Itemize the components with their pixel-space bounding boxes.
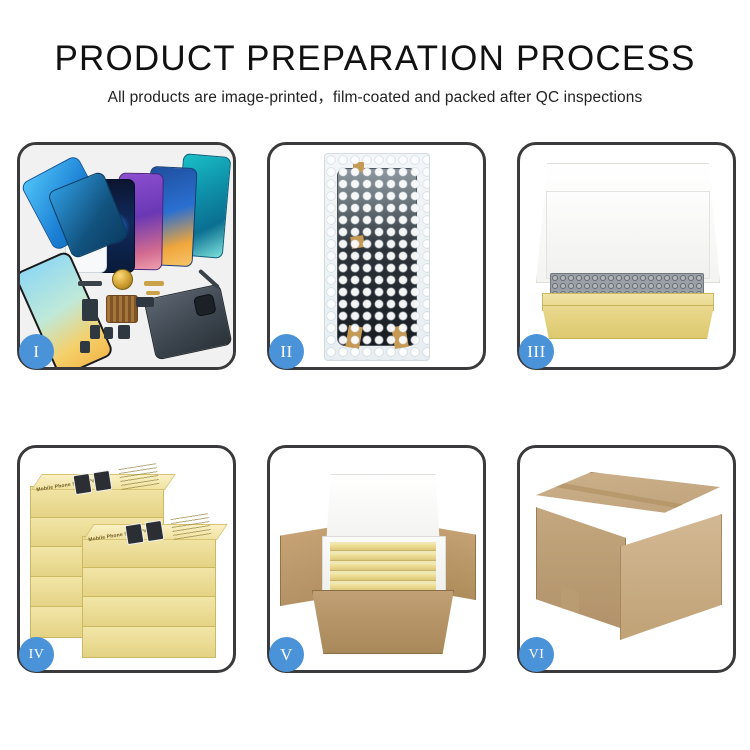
step-badge-4: IV (19, 637, 54, 672)
carton-right-face (620, 514, 722, 640)
gold-connector-part (144, 281, 164, 286)
process-step-2: II (267, 142, 486, 370)
step-badge-3: III (519, 334, 554, 369)
page-subtitle: All products are image-printed，film-coat… (0, 87, 750, 109)
step-badge-1: I (19, 334, 54, 369)
speaker-part (78, 281, 102, 286)
step-badge-2: II (269, 334, 304, 369)
bubble-wrap-bag (324, 153, 430, 361)
stacked-box (82, 596, 216, 628)
step-6-image (520, 448, 733, 670)
bubble-texture (325, 154, 429, 360)
step-badge-6: VI (519, 637, 554, 672)
sim-tray-part (104, 327, 113, 339)
vibration-motor-part (112, 269, 133, 290)
step-3-image (520, 145, 733, 367)
stacked-box (82, 566, 216, 598)
process-step-1: I (17, 142, 236, 370)
process-step-grid: I II (17, 142, 733, 679)
step-5-image (270, 448, 483, 670)
yellow-boxes-inside (330, 542, 436, 592)
process-step-4: Mobile Phone Spare Parts Mobile Phone Sp… (17, 445, 236, 673)
carton-left-face (536, 502, 626, 630)
logic-board-part (106, 295, 138, 323)
carton-tape-upper (561, 586, 579, 613)
process-step-5: V (267, 445, 486, 673)
header: PRODUCT PREPARATION PROCESS All products… (0, 0, 750, 109)
white-foam-sheet (546, 191, 710, 279)
step-2-image (270, 145, 483, 367)
camera-module-part (90, 325, 100, 339)
carton-tape-lower (565, 640, 583, 665)
box-stack: Mobile Phone Spare Parts Mobile Phone Sp… (28, 470, 228, 654)
step-1-image (20, 145, 233, 367)
step-badge-5: V (269, 637, 304, 672)
process-step-6: VI (517, 445, 736, 673)
stacked-box (82, 626, 216, 658)
box-front-panel (542, 305, 714, 339)
lid-screen-image (145, 520, 165, 542)
phone-back-cover (143, 284, 232, 361)
flex-cable-part (82, 299, 98, 321)
process-step-3: III (517, 142, 736, 370)
small-screw-part (80, 341, 90, 353)
open-carton (284, 474, 470, 646)
lid-screen-image (93, 470, 113, 492)
gold-bracket-part (146, 291, 160, 295)
sealed-carton (532, 472, 722, 648)
product-preparation-infographic: PRODUCT PREPARATION PROCESS All products… (0, 0, 750, 750)
step-4-image: Mobile Phone Spare Parts Mobile Phone Sp… (20, 448, 233, 670)
antenna-part (136, 297, 154, 307)
page-title: PRODUCT PREPARATION PROCESS (0, 38, 750, 80)
carton-body (312, 590, 454, 654)
lid-screen-image (125, 523, 145, 545)
lid-screen-image (73, 473, 93, 495)
button-part (118, 325, 130, 339)
